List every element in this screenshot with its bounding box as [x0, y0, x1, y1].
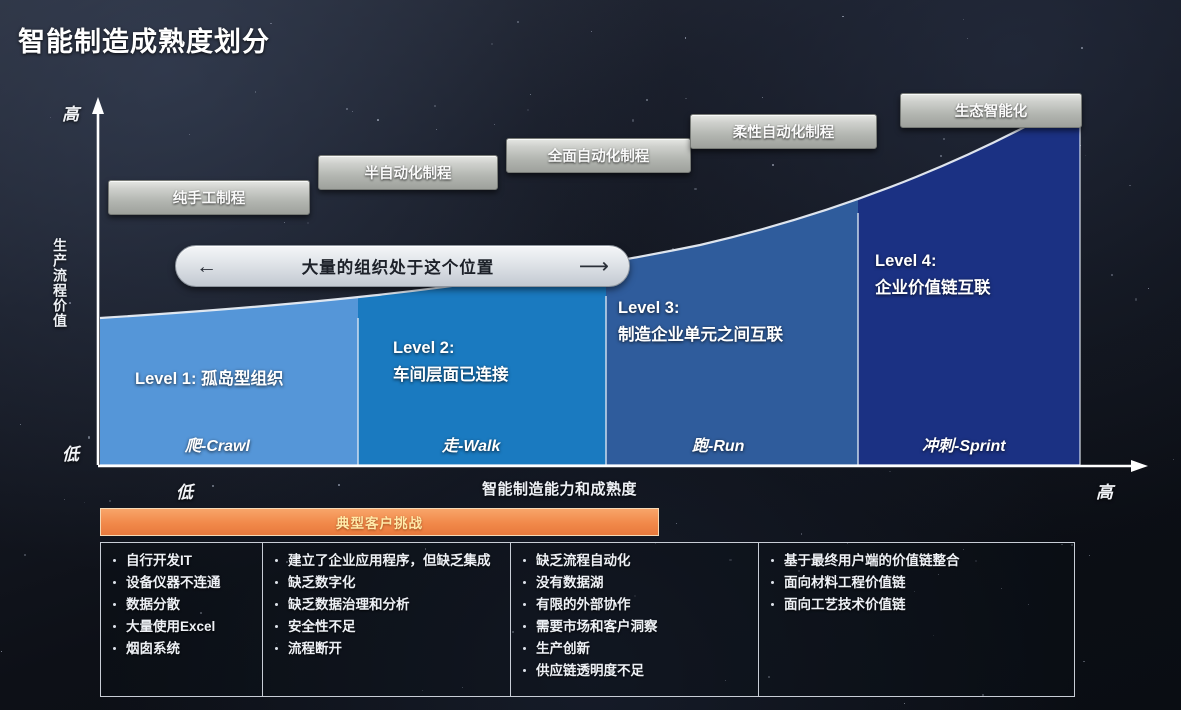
- challenge-column-1: 自行开发IT设备仪器不连通数据分散大量使用Excel烟囱系统: [101, 543, 263, 696]
- step-bar-semi-auto: 半自动化制程: [318, 155, 498, 190]
- challenge-column-3: 缺乏流程自动化没有数据湖有限的外部协作需要市场和客户洞察生产创新供应链透明度不足: [511, 543, 759, 696]
- challenge-item: 建立了企业应用程序，但缺乏集成: [273, 551, 504, 570]
- majority-position-callout: ← 大量的组织处于这个位置 ⟶: [175, 245, 630, 287]
- challenge-item: 流程断开: [273, 639, 504, 658]
- challenge-item: 供应链透明度不足: [521, 661, 752, 680]
- band-speed-level-4: 冲刺-Sprint: [922, 432, 1006, 456]
- band-label-level-2-line2: 车间层面已连接: [393, 364, 509, 387]
- challenge-table: 自行开发IT设备仪器不连通数据分散大量使用Excel烟囱系统 建立了企业应用程序…: [100, 542, 1075, 697]
- arrow-left-icon: ←: [196, 256, 217, 277]
- challenge-item: 没有数据湖: [521, 573, 752, 592]
- step-bar-flexible-auto: 柔性自动化制程: [690, 114, 877, 149]
- y-axis-low-label: 低: [62, 440, 79, 465]
- challenge-item: 基于最终用户端的价值链整合: [769, 551, 1069, 570]
- band-label-level-4: Level 4:: [875, 250, 936, 273]
- challenge-banner: 典型客户挑战: [100, 508, 659, 536]
- challenge-item: 设备仪器不连通: [111, 573, 256, 592]
- band-label-level-4-line2: 企业价值链互联: [875, 277, 991, 300]
- x-axis-title: 智能制造能力和成熟度: [482, 478, 637, 499]
- y-axis-title: 生产流程价值: [48, 238, 70, 328]
- x-axis-low-label: 低: [176, 478, 193, 503]
- step-bar-manual: 纯手工制程: [108, 180, 310, 215]
- band-speed-level-3: 跑-Run: [692, 432, 744, 456]
- band-speed-level-1: 爬-Crawl: [185, 432, 250, 456]
- callout-text: 大量的组织处于这个位置: [302, 254, 495, 278]
- challenge-item: 自行开发IT: [111, 551, 256, 570]
- challenge-column-4: 基于最终用户端的价值链整合面向材料工程价值链面向工艺技术价值链: [759, 543, 1075, 696]
- challenge-item: 面向工艺技术价值链: [769, 595, 1069, 614]
- arrow-right-icon: ⟶: [579, 256, 609, 277]
- challenge-item: 大量使用Excel: [111, 617, 256, 636]
- band-speed-level-2: 走-Walk: [442, 432, 500, 456]
- challenge-item: 需要市场和客户洞察: [521, 617, 752, 636]
- band-label-level-3: Level 3:: [618, 297, 679, 320]
- challenge-item: 缺乏数据治理和分析: [273, 595, 504, 614]
- challenge-item: 烟囱系统: [111, 639, 256, 658]
- challenge-item: 数据分散: [111, 595, 256, 614]
- x-axis-high-label: 高: [1096, 478, 1113, 503]
- band-label-level-3-line2: 制造企业单元之间互联: [618, 324, 783, 347]
- diagram-canvas: 智能制造成熟度划分 高 低: [0, 0, 1181, 710]
- challenge-item: 缺乏流程自动化: [521, 551, 752, 570]
- band-label-level-1: Level 1: 孤岛型组织: [135, 368, 284, 391]
- challenge-item: 有限的外部协作: [521, 595, 752, 614]
- challenge-column-2: 建立了企业应用程序，但缺乏集成缺乏数字化缺乏数据治理和分析安全性不足流程断开: [263, 543, 511, 696]
- challenge-item: 面向材料工程价值链: [769, 573, 1069, 592]
- step-bar-full-auto: 全面自动化制程: [506, 138, 691, 173]
- challenge-item: 缺乏数字化: [273, 573, 504, 592]
- challenge-item: 生产创新: [521, 639, 752, 658]
- y-axis-high-label: 高: [62, 100, 79, 125]
- challenge-item: 安全性不足: [273, 617, 504, 636]
- step-bar-eco-intelligent: 生态智能化: [900, 93, 1082, 128]
- band-label-level-2: Level 2:: [393, 337, 454, 360]
